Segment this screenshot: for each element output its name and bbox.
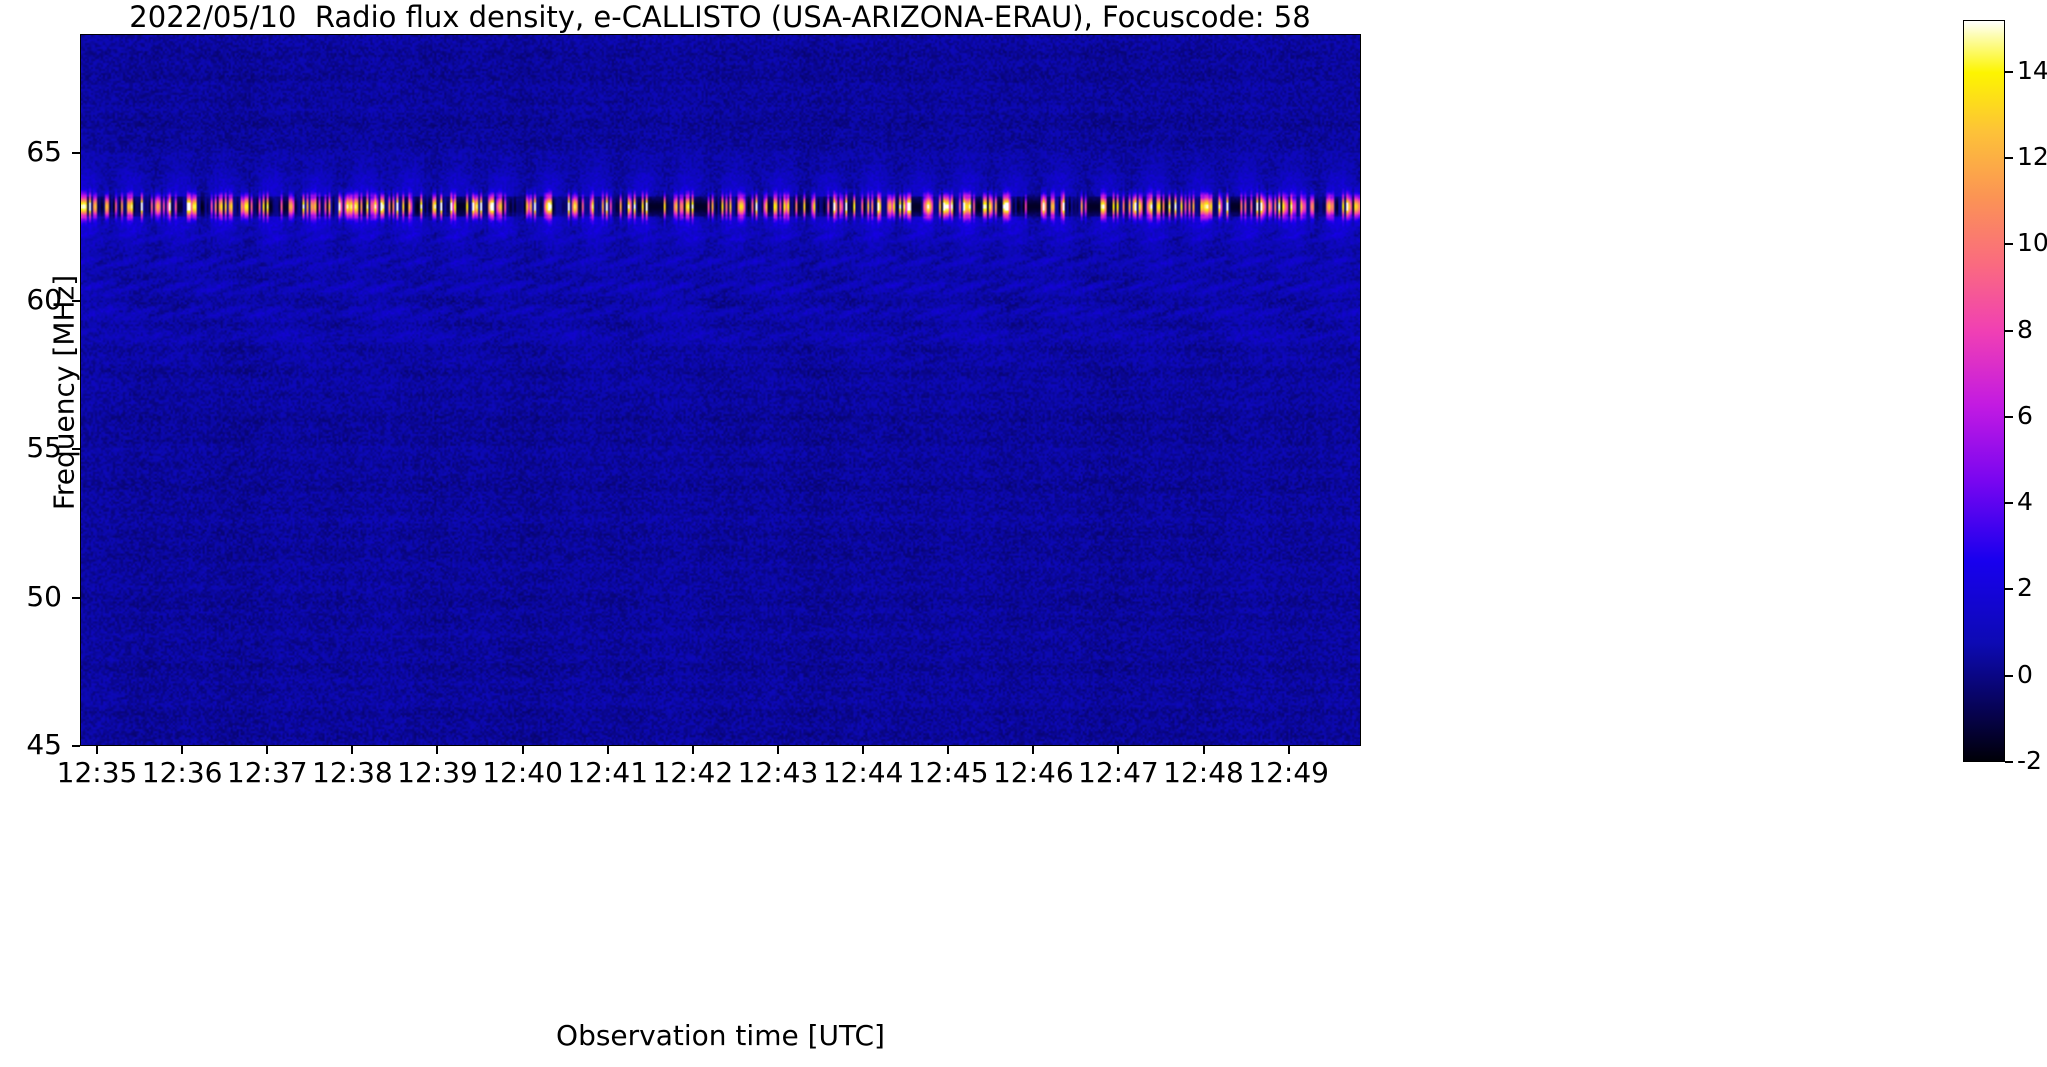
- chart-title: 2022/05/10 Radio flux density, e-CALLIST…: [80, 2, 1360, 32]
- x-tick-mark: [692, 746, 694, 754]
- colorbar-tick-mark: [2005, 588, 2013, 590]
- x-tick-mark: [96, 746, 98, 754]
- x-tick-mark: [777, 746, 779, 754]
- colorbar: [1963, 20, 2005, 762]
- colorbar-tick-label: 12: [2017, 142, 2047, 171]
- colorbar-tick-mark: [2005, 243, 2013, 245]
- x-tick-mark: [351, 746, 353, 754]
- x-tick-mark: [607, 746, 609, 754]
- x-tick-mark: [1288, 746, 1290, 754]
- x-tick-label: 12:49: [1229, 756, 1349, 789]
- spectrogram-plot-area: [80, 34, 1361, 746]
- y-tick-mark: [72, 745, 80, 747]
- x-tick-mark: [947, 746, 949, 754]
- y-tick-mark: [72, 448, 80, 450]
- colorbar-tick-label: 6: [2017, 401, 2033, 430]
- colorbar-tick-mark: [2005, 71, 2013, 73]
- y-tick-mark: [72, 597, 80, 599]
- colorbar-tick-label: 4: [2017, 487, 2033, 516]
- spectrogram-image: [81, 35, 1360, 745]
- y-tick-label: 55: [0, 431, 62, 464]
- x-tick-mark: [1117, 746, 1119, 754]
- colorbar-tick-label: -2: [2017, 746, 2042, 775]
- x-tick-mark: [522, 746, 524, 754]
- x-tick-mark: [1032, 746, 1034, 754]
- colorbar-tick-label: 2: [2017, 573, 2033, 602]
- y-tick-label: 65: [0, 135, 62, 168]
- colorbar-tick-mark: [2005, 502, 2013, 504]
- y-tick-mark: [72, 152, 80, 154]
- x-tick-mark: [181, 746, 183, 754]
- y-tick-label: 60: [0, 283, 62, 316]
- colorbar-tick-label: 8: [2017, 315, 2033, 344]
- x-axis-label: Observation time [UTC]: [80, 1019, 1361, 1052]
- colorbar-tick-label: 0: [2017, 660, 2033, 689]
- y-tick-mark: [72, 300, 80, 302]
- colorbar-gradient: [1964, 21, 2004, 761]
- figure-canvas: 2022/05/10 Radio flux density, e-CALLIST…: [0, 0, 2047, 1067]
- x-tick-mark: [266, 746, 268, 754]
- colorbar-tick-mark: [2005, 416, 2013, 418]
- colorbar-tick-label: 14: [2017, 56, 2047, 85]
- x-tick-mark: [1203, 746, 1205, 754]
- colorbar-tick-mark: [2005, 157, 2013, 159]
- colorbar-tick-mark: [2005, 761, 2013, 763]
- colorbar-tick-mark: [2005, 330, 2013, 332]
- x-tick-mark: [436, 746, 438, 754]
- colorbar-tick-mark: [2005, 675, 2013, 677]
- x-tick-mark: [862, 746, 864, 754]
- y-tick-label: 50: [0, 580, 62, 613]
- colorbar-tick-label: 10: [2017, 228, 2047, 257]
